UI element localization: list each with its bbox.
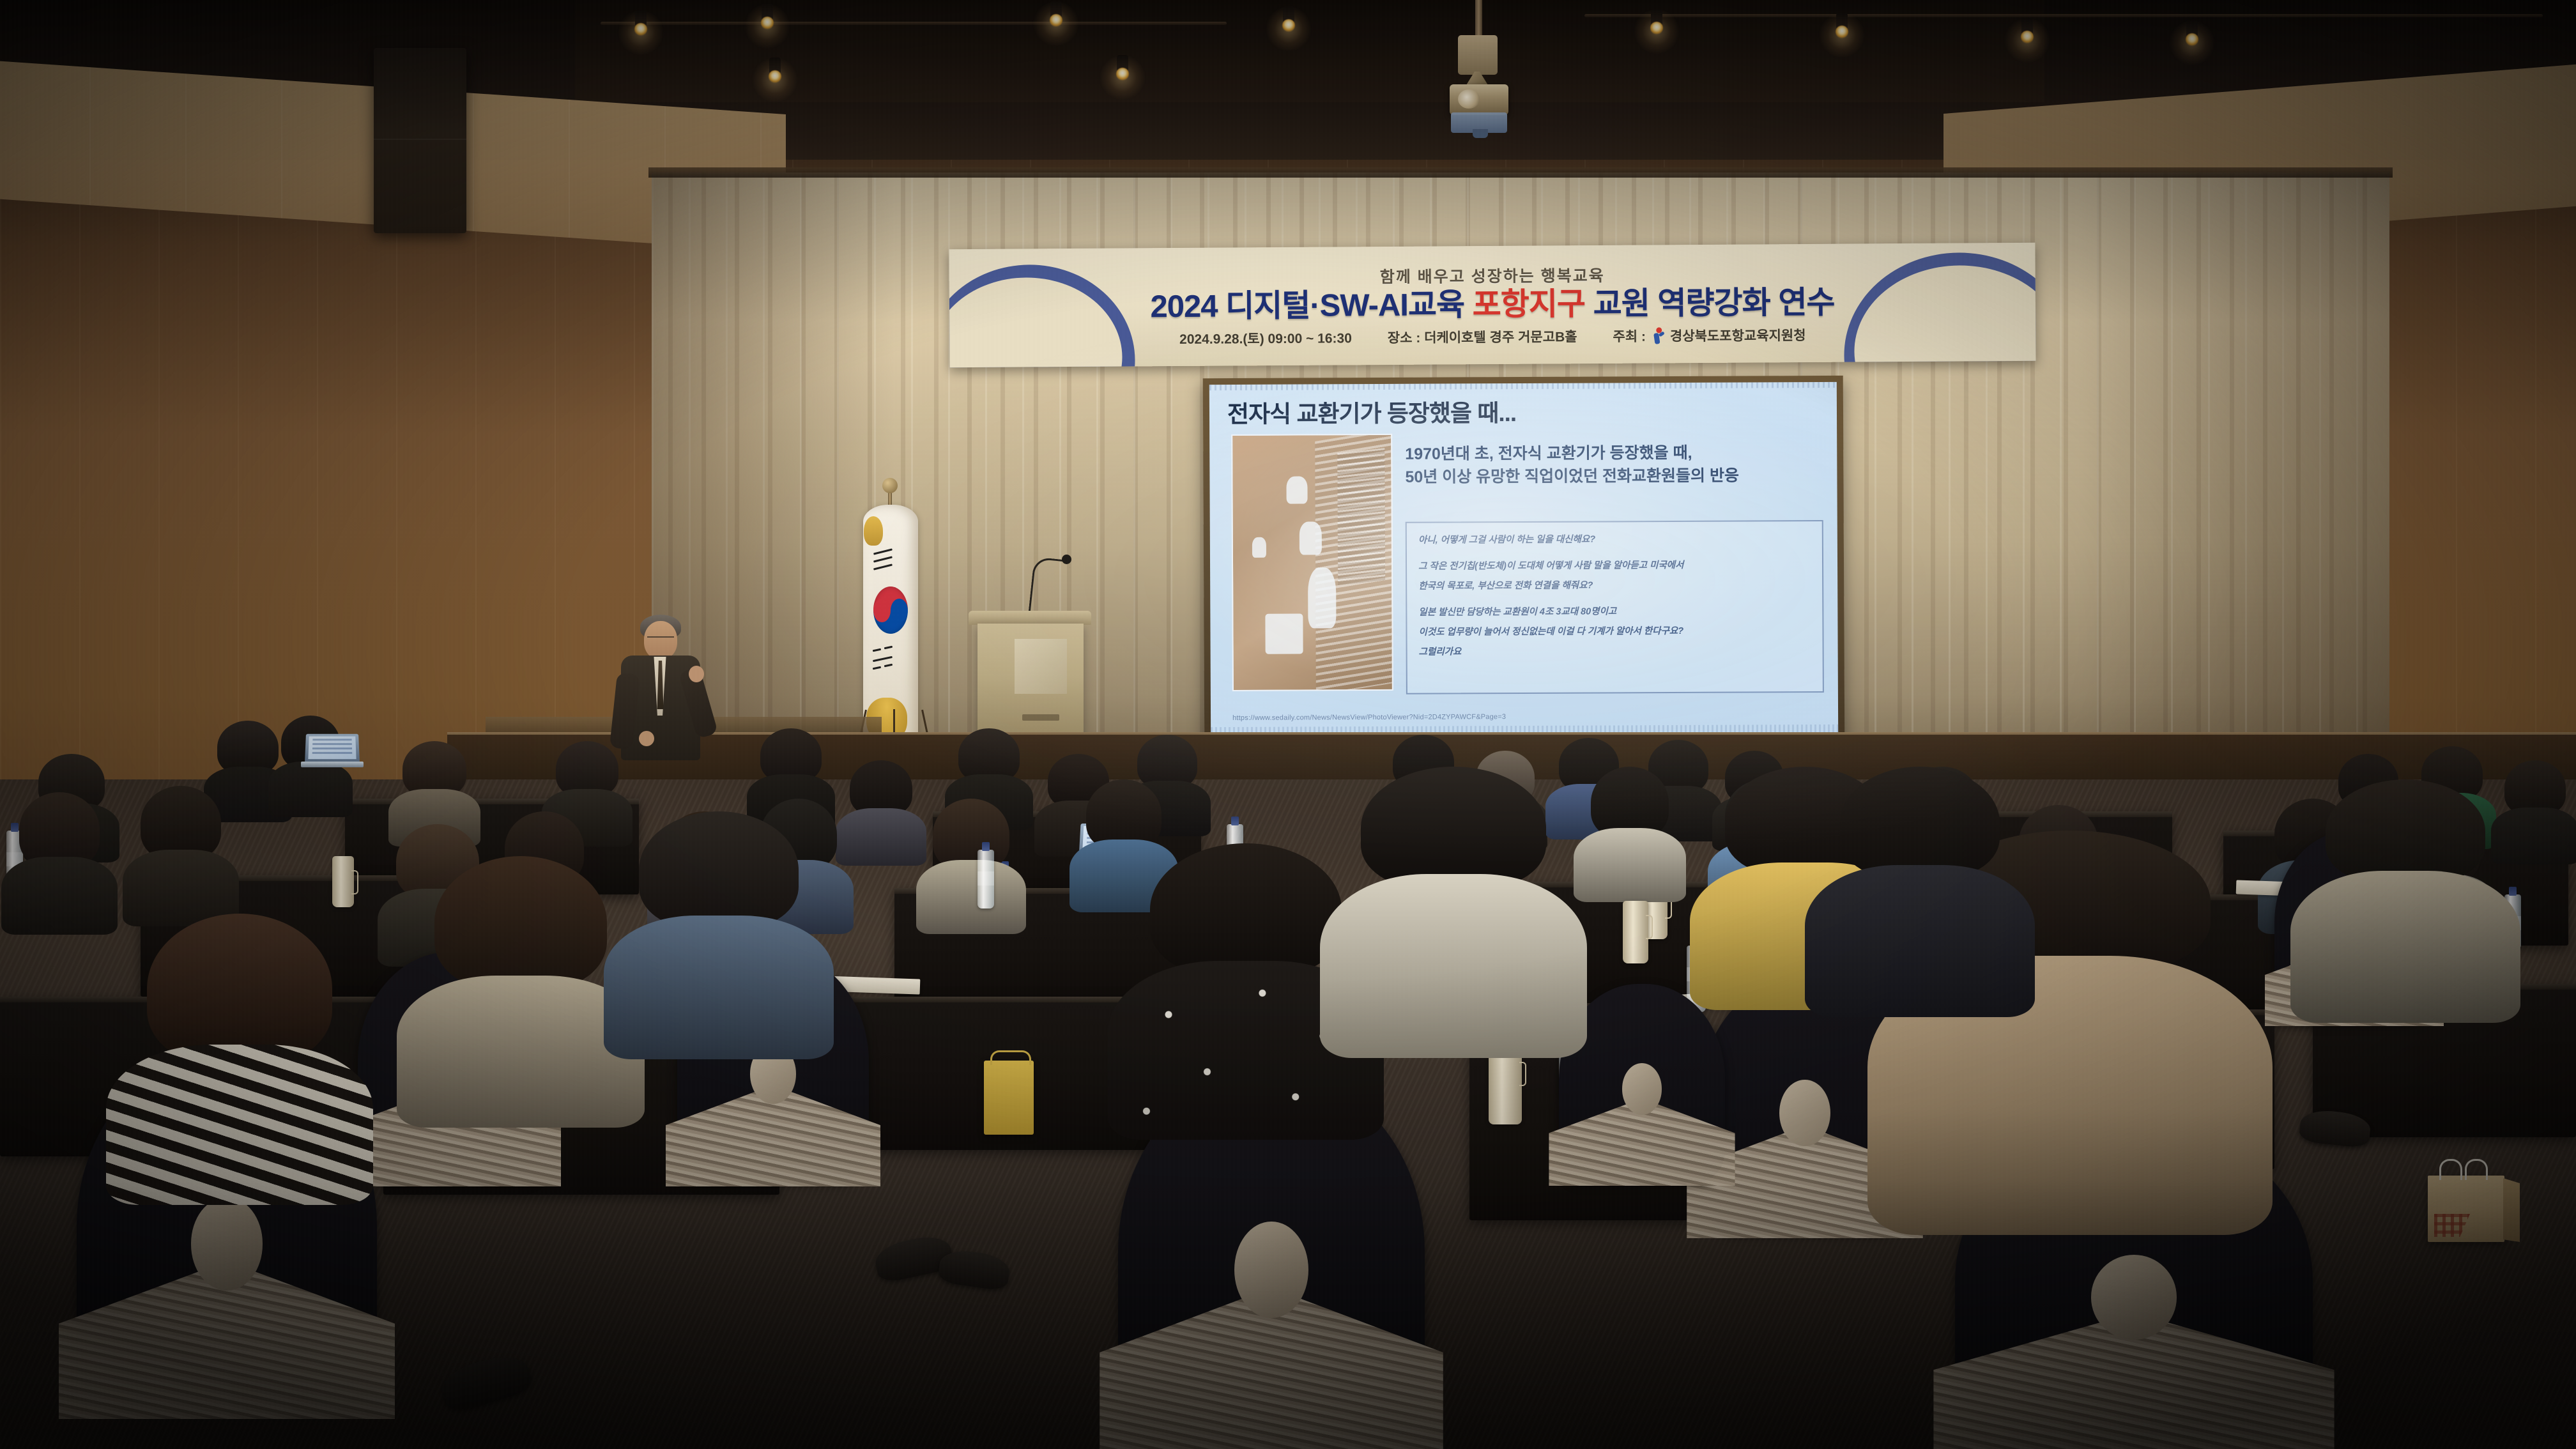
ceiling-spotlight-icon <box>1114 55 1131 84</box>
tumbler-icon <box>332 856 354 907</box>
banner-host-label: 주최 : <box>1613 326 1646 346</box>
banner-title-part2: 교원 역량강화 연수 <box>1585 285 1835 321</box>
projector-mount-pole <box>1475 0 1482 37</box>
audience-member <box>1150 843 1342 1099</box>
lighting-truss <box>1584 14 2543 17</box>
laptop-icon <box>305 733 359 769</box>
projector-nub <box>1473 129 1488 138</box>
water-bottle-icon <box>977 850 994 908</box>
audience-member <box>850 760 912 860</box>
banner-datetime: 2024.9.28.(토) 09:00 ~ 16:30 <box>1179 328 1352 349</box>
flag-tassel-top <box>864 516 883 546</box>
podium-nameplate <box>1022 714 1059 721</box>
slide-quote-box: 아니, 어떻게 그걸 사람이 하는 일을 대신해요? 그 작은 전기칩(반도체)… <box>1406 520 1824 694</box>
audience-member <box>639 811 799 1029</box>
audience-member <box>2326 779 2485 997</box>
slide-quote-4: 이것도 업무량이 늘어서 정신없는데 이걸 다 기계가 알아서 한다구요? <box>1418 624 1811 640</box>
projector-lens-icon <box>1458 89 1480 109</box>
audience-member <box>1591 767 1669 894</box>
podium-top <box>969 611 1091 625</box>
education-office-logo-icon <box>1650 328 1666 344</box>
audience-member <box>147 914 332 1156</box>
tumbler-icon <box>1489 1048 1522 1124</box>
slide-photo-switchboard-2 <box>1337 448 1385 585</box>
ceiling-spotlight-icon <box>2184 20 2200 50</box>
audience-member <box>1840 767 2000 990</box>
slide-quote-3: 일본 발신만 담당하는 교환원이 4조 3교대 80명이고 <box>1418 604 1811 620</box>
event-banner: 함께 배우고 성장하는 행복교육 2024 디지털·SW-AI교육 포항지구 교… <box>949 243 2035 367</box>
slide-quote-0: 아니, 어떻게 그걸 사람이 하는 일을 대신해요? <box>1418 532 1811 548</box>
audience-member <box>933 799 1009 926</box>
ceiling-spotlight-icon <box>1280 6 1297 36</box>
conference-hall-photo: 함께 배우고 성장하는 행복교육 2024 디지털·SW-AI교육 포항지구 교… <box>0 0 2576 1449</box>
ceiling-spotlight-icon <box>1834 13 1850 42</box>
slide-quote-2: 한국의 목포로, 부산으로 전화 연결을 해줘요? <box>1418 578 1811 594</box>
ceiling-spotlight-icon <box>1048 1 1064 31</box>
banner-title-part1: 2024 디지털·SW-AI교육 <box>1150 287 1473 324</box>
banner-host-org: 경상북도포항교육지원청 <box>1670 325 1806 345</box>
microphone-gooseneck <box>1029 556 1071 617</box>
banner-subtitle: 함께 배우고 성장하는 행복교육 <box>1380 263 1605 287</box>
banner-title: 2024 디지털·SW-AI교육 포항지구 교원 역량강화 연수 <box>1150 286 1834 323</box>
microphone-icon <box>1062 555 1071 564</box>
slide-lead-line1: 1970년대 초, 전자식 교환기가 등장했을 때, <box>1405 441 1823 466</box>
pa-speaker-icon <box>374 48 466 233</box>
slide-photo <box>1231 434 1393 691</box>
presenter-hand <box>639 731 654 746</box>
audience-member <box>434 856 607 1086</box>
ceiling-spotlight-icon <box>1648 9 1665 38</box>
presenter-hand <box>689 666 704 682</box>
slide-quote-5: 그럴리가요 <box>1419 643 1811 659</box>
podium-panel <box>1015 639 1067 694</box>
ceiling-spotlight-icon <box>759 4 776 33</box>
audience-member <box>2504 760 2566 859</box>
audience-member <box>1361 767 1546 1022</box>
slide-title: 전자식 교환기가 등장했을 때... <box>1227 394 1516 429</box>
slide-source-url: https://www.sedaily.com/News/NewsView/Ph… <box>1232 713 1506 722</box>
banner-place: 장소 : 더케이호텔 경주 거문고B홀 <box>1388 327 1577 348</box>
banner-title-highlight: 포항지구 <box>1473 287 1586 322</box>
kraft-shopping-bag[interactable] <box>2428 1176 2504 1242</box>
curtain-rail <box>648 167 2393 178</box>
projector-bracket <box>1458 35 1498 75</box>
slide-lead-line2: 50년 이상 유망한 직업이었던 전화교환원들의 반응 <box>1405 464 1823 489</box>
lighting-truss <box>601 22 1227 25</box>
projection-screen: 전자식 교환기가 등장했을 때... 1970년대 초, 전자식 교환기가 등장… <box>1209 382 1838 737</box>
yellow-bag[interactable] <box>984 1061 1034 1135</box>
ceiling-spotlight-icon <box>632 10 649 40</box>
projection-screen-frame: 전자식 교환기가 등장했을 때... 1970년대 초, 전자식 교환기가 등장… <box>1203 376 1844 744</box>
slide-quote-1: 그 작은 전기칩(반도체)이 도대체 어떻게 사람 말을 알아듣고 미국에서 <box>1418 558 1811 574</box>
taeguk-symbol-icon <box>873 586 908 634</box>
screen-top-artifact <box>1209 382 1837 390</box>
presenter-glasses-icon <box>647 636 674 643</box>
ceiling-spotlight-icon <box>767 57 783 87</box>
flag-finial-icon <box>882 478 898 493</box>
tumbler-icon <box>1623 901 1648 963</box>
slide-lead-text: 1970년대 초, 전자식 교환기가 등장했을 때, 50년 이상 유망한 직업… <box>1405 441 1823 489</box>
audience-member <box>19 792 100 926</box>
ceiling-spotlight-icon <box>2019 18 2035 47</box>
audience-member <box>141 786 221 919</box>
